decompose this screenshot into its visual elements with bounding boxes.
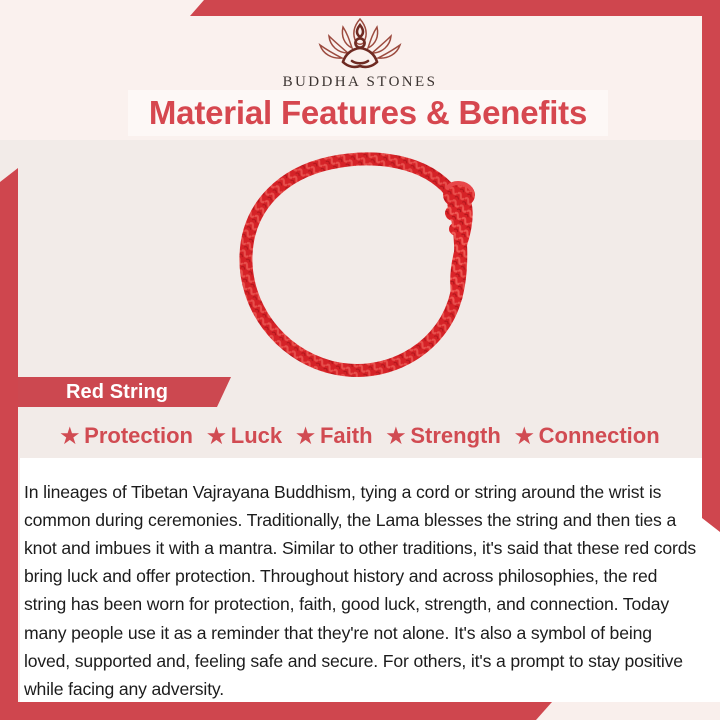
benefit-label: Luck [231,423,282,449]
benefit-label: Connection [539,423,660,449]
lotus-meditation-figure-icon [300,14,420,72]
decorative-bar-bottom [0,702,552,720]
star-icon: ★ [515,426,534,447]
benefit-label: Strength [410,423,500,449]
red-braided-string-bracelet-image [226,147,494,379]
benefit-item-faith: ★ Faith [291,423,377,449]
star-icon: ★ [387,426,406,447]
product-name-label: Red String [66,381,168,404]
product-name-banner: Red String [18,377,231,407]
title-plate: Material Features & Benefits [128,90,608,136]
brand-name: BUDDHA STONES [283,74,438,91]
benefit-item-protection: ★ Protection [55,423,198,449]
benefit-item-luck: ★ Luck [202,423,287,449]
benefits-row: ★ Protection ★ Luck ★ Faith ★ Strength ★… [0,418,720,454]
benefit-label: Protection [84,423,193,449]
benefit-item-connection: ★ Connection [510,423,665,449]
benefit-label: Faith [320,423,373,449]
infographic-card: BUDDHA STONES Material Features & Benefi… [0,0,720,720]
star-icon: ★ [60,426,79,447]
benefit-item-strength: ★ Strength [382,423,506,449]
product-image-area [0,145,720,380]
description-text: In lineages of Tibetan Vajrayana Buddhis… [24,478,696,704]
page-title: Material Features & Benefits [149,94,587,132]
star-icon: ★ [296,426,315,447]
star-icon: ★ [207,426,226,447]
brand-logo: BUDDHA STONES [0,14,720,91]
